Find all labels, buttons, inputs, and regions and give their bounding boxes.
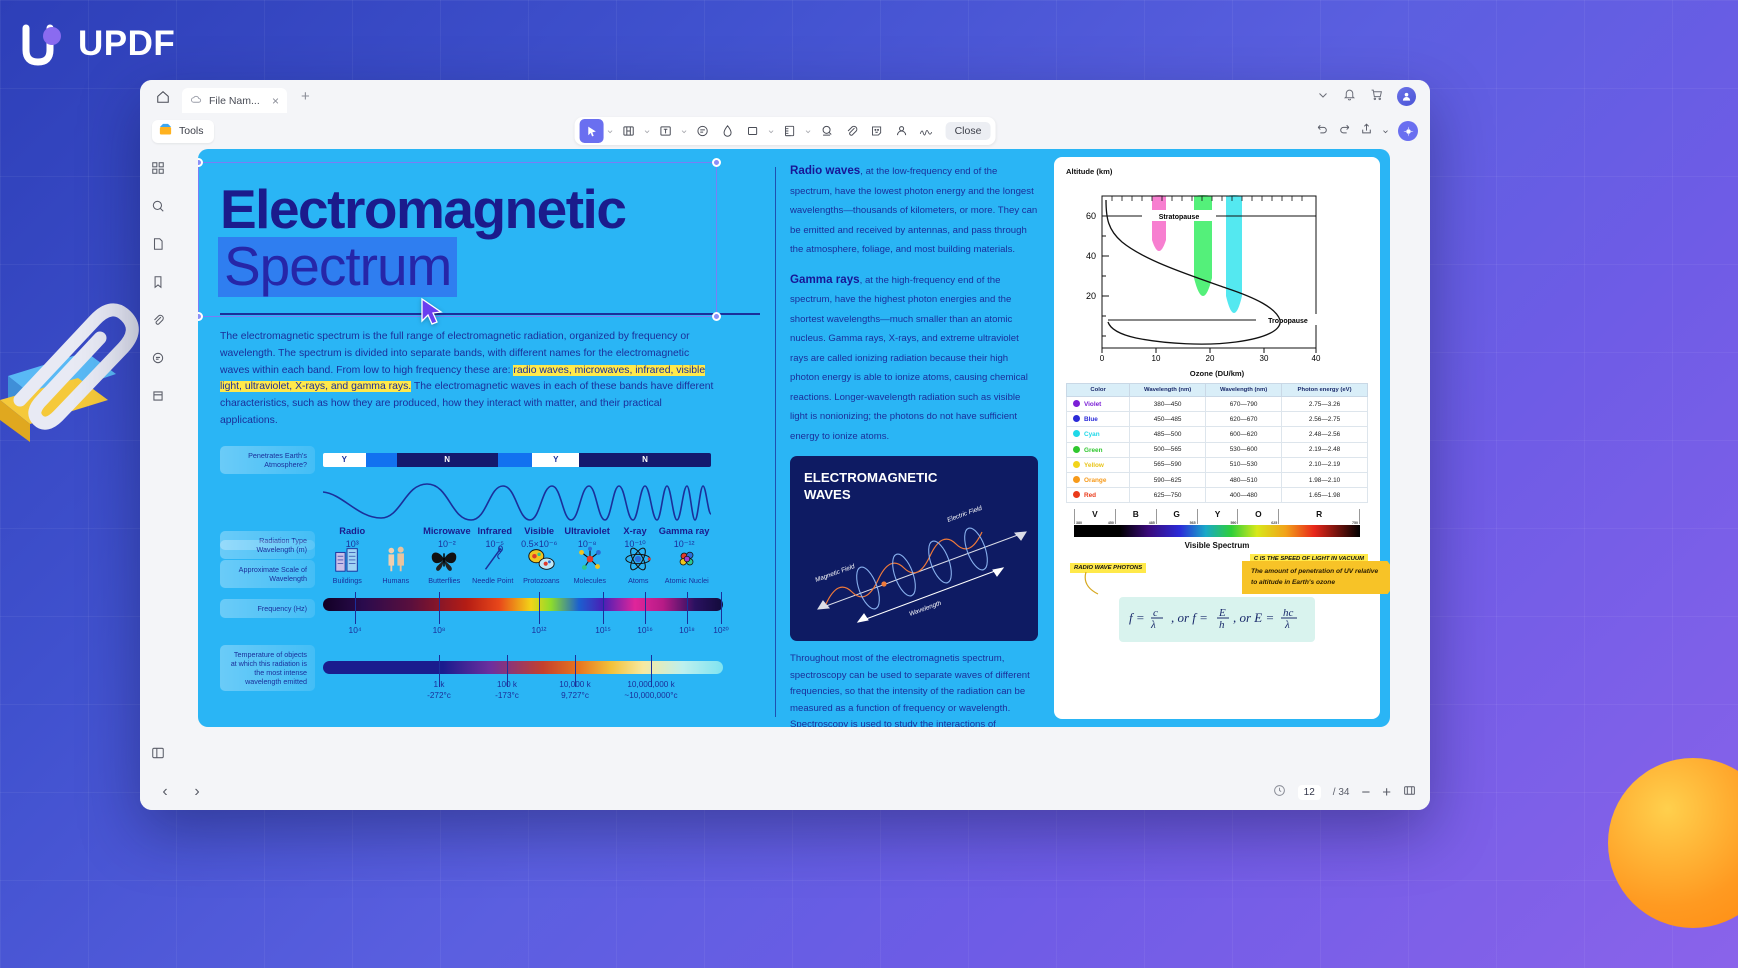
- window-body: Electromagnetic Spectrum The electromagn…: [140, 149, 1430, 774]
- data-card: Altitude (km): [1054, 157, 1380, 719]
- protozoan-icon: [526, 544, 556, 574]
- visible-spectrum-caption: Visible Spectrum: [1074, 541, 1360, 550]
- spectrum-diagram: Penetrates Earth's Atmosphere? Y N Y N: [220, 446, 761, 704]
- radio-waves-heading: Radio waves: [790, 164, 860, 177]
- temp-tick-0-bottom: -272°c: [427, 691, 451, 701]
- th-color: Color: [1067, 384, 1130, 397]
- shape-tool-caret-icon[interactable]: [766, 119, 777, 143]
- paperclip-decoration-icon: [0, 280, 160, 440]
- page-history-icon[interactable]: [1273, 784, 1286, 800]
- band-type-gamma: Gamma ray: [657, 526, 711, 536]
- resize-handle-top-right[interactable]: [712, 158, 721, 167]
- brand-name: UPDF: [78, 24, 175, 64]
- signature-tool[interactable]: [890, 119, 914, 143]
- share-icon[interactable]: [1360, 122, 1373, 140]
- orange-wl2: 480—510: [1206, 472, 1282, 487]
- penetration-yes-1: Y: [323, 453, 366, 467]
- visible-spectrum-table: Color Wavelength (nm) Wavelength (nm) Ph…: [1066, 383, 1368, 503]
- vs-label-g: G: [1173, 509, 1180, 519]
- sidebar-item-attachments[interactable]: [147, 309, 169, 331]
- close-annotation-button[interactable]: Close: [946, 122, 991, 140]
- svg-text:h: h: [1219, 619, 1225, 631]
- band-type-xray: X-ray: [613, 526, 657, 536]
- scale-caption-needle: Needle Point: [472, 576, 513, 585]
- cart-icon[interactable]: [1370, 88, 1383, 106]
- vs-letter-v: V 380 450: [1074, 509, 1115, 524]
- table-body: Violet 380—450 670—790 2.75—3.26 Blue 45…: [1067, 397, 1368, 503]
- blue-energy: 2.56—2.75: [1282, 412, 1368, 427]
- temperature-gradient-bar: [323, 661, 723, 674]
- scale-label: Approximate Scale of Wavelength: [220, 560, 315, 588]
- pen-tool[interactable]: [716, 119, 740, 143]
- wave-graphic: [323, 474, 711, 530]
- measure-tool-caret-icon[interactable]: [803, 119, 814, 143]
- color-swatch-violet: [1073, 400, 1080, 407]
- color-swatch-cyan: [1073, 430, 1080, 437]
- svg-text:Magnetic Field: Magnetic Field: [814, 563, 856, 584]
- page-footer: ‹ › 12 / 34 − +: [140, 774, 1430, 810]
- freq-tick-1: 10⁸: [433, 625, 446, 635]
- penetration-yes-2: Y: [532, 453, 579, 467]
- svg-text:40: 40: [1312, 354, 1321, 363]
- tab-title: File Nam...: [209, 95, 260, 107]
- temperature-scale: 1 k -272°c 100 k -173°c 10,000 k 9,727°c: [323, 661, 723, 704]
- scale-item-atoms: Atoms: [614, 544, 663, 585]
- row-color-orange: Orange: [1084, 477, 1106, 484]
- blue-wl2: 620—670: [1206, 412, 1282, 427]
- violet-wl2: 670—790: [1206, 397, 1282, 412]
- svg-text:Electric Field: Electric Field: [946, 505, 983, 524]
- svg-text:20: 20: [1206, 354, 1215, 363]
- tools-button[interactable]: Tools: [152, 120, 214, 143]
- tools-label: Tools: [179, 125, 204, 137]
- chevron-down-icon[interactable]: [1317, 88, 1329, 106]
- color-swatch-orange: [1073, 476, 1080, 483]
- main-toolbar: Tools: [140, 113, 1430, 149]
- highlight-tool-caret-icon[interactable]: [642, 119, 653, 143]
- scale-caption-nuclei: Atomic Nuclei: [665, 576, 709, 585]
- freq-tick-0: 10⁴: [349, 625, 362, 635]
- table-row: Orange 590—625 480—510 1.98—2.10: [1067, 472, 1368, 487]
- vs-label-b: B: [1133, 509, 1139, 519]
- row-color-green: Green: [1084, 447, 1102, 454]
- scale-item-buildings: Buildings: [323, 544, 372, 585]
- user-avatar[interactable]: [1397, 87, 1416, 106]
- cyan-wl2: 600—620: [1206, 427, 1282, 442]
- table-header-row: Color Wavelength (nm) Wavelength (nm) Ph…: [1067, 384, 1368, 397]
- vs-y-right: 590: [1230, 521, 1236, 525]
- scale-caption-butterflies: Butterflies: [428, 576, 460, 585]
- scale-item-needle: Needle Point: [469, 544, 518, 585]
- annotation-tool-group: Close: [575, 117, 996, 145]
- vs-label-v: V: [1092, 509, 1098, 519]
- vs-label-y: Y: [1215, 509, 1221, 519]
- frequency-gradient-bar: [323, 598, 723, 611]
- band-type-visible: Visible: [517, 526, 561, 536]
- sidebar-item-bookmarks[interactable]: [147, 271, 169, 293]
- vs-b-right: 485: [1149, 521, 1155, 525]
- left-sidebar-rail: [140, 149, 176, 774]
- vs-label-o: O: [1255, 509, 1262, 519]
- penetration-blue-2: [498, 453, 533, 467]
- red-wl2: 400—480: [1206, 488, 1282, 503]
- total-pages-label: / 34: [1333, 787, 1350, 798]
- band-type-infrared: Infrared: [473, 526, 517, 536]
- svg-text:Stratopause: Stratopause: [1159, 214, 1200, 221]
- previous-page-button[interactable]: ‹: [154, 781, 176, 803]
- row-color-cyan: Cyan: [1084, 431, 1100, 438]
- band-type-microwave: Microwave: [421, 526, 472, 536]
- color-swatch-yellow: [1073, 461, 1080, 468]
- ozone-chart-ylabel: Altitude (km): [1066, 167, 1368, 176]
- table-row: Green 500—565 530—600 2.19—2.48: [1067, 442, 1368, 457]
- atom-icon: [623, 544, 653, 574]
- zoom-out-button[interactable]: −: [1361, 784, 1370, 801]
- redo-icon[interactable]: [1338, 122, 1351, 140]
- document-page: Electromagnetic Spectrum The electromagn…: [198, 149, 1390, 727]
- attachment-tool[interactable]: [840, 119, 864, 143]
- updf-logo-icon: [18, 20, 66, 68]
- vs-letter-r: R 750: [1278, 509, 1360, 524]
- orange-energy: 1.98—2.10: [1282, 472, 1368, 487]
- molecule-icon: [575, 544, 605, 574]
- table-row: Cyan 485—500 600—620 2.48—2.56: [1067, 427, 1368, 442]
- desktop-background: UPDF: [0, 0, 1738, 968]
- scale-item-butterflies: Butterflies: [420, 544, 469, 585]
- tools-palette-icon: [158, 122, 173, 140]
- color-swatch-blue: [1073, 415, 1080, 422]
- current-page-input[interactable]: 12: [1298, 785, 1321, 800]
- cyan-wl1: 485—500: [1130, 427, 1206, 442]
- table-row: Red 625—750 400—480 1.65—1.98: [1067, 488, 1368, 503]
- temp-tick-2-bottom: 9,727°c: [561, 691, 589, 701]
- sidebar-item-layers[interactable]: [147, 385, 169, 407]
- red-energy: 1.65—1.98: [1282, 488, 1368, 503]
- temp-tick-2-top: 10,000 k: [559, 680, 590, 690]
- sidebar-item-annotations[interactable]: [147, 347, 169, 369]
- color-swatch-green: [1073, 446, 1080, 453]
- photon-energy-formula: f =c λ , or f = Eh , or E = hcλ: [1119, 597, 1315, 642]
- text-tool[interactable]: [654, 119, 678, 143]
- frequency-scale: 10⁴ 10⁸ 10¹² 10¹⁵ 10¹⁶ 10¹⁸ 10²⁰: [323, 598, 723, 633]
- humans-icon: [381, 544, 411, 574]
- scale-caption-humans: Humans: [382, 576, 409, 585]
- orange-orb-decoration: [1608, 758, 1738, 928]
- svg-text:Wavelength: Wavelength: [908, 600, 942, 618]
- tab-bar: File Nam... × +: [140, 80, 1430, 113]
- wave-card-title-line2: WAVES: [804, 487, 1024, 504]
- vs-v-right: 450: [1108, 521, 1114, 525]
- orange-wl1: 590—625: [1130, 472, 1206, 487]
- penetration-no-1: N: [397, 453, 498, 467]
- resize-handle-bottom-right[interactable]: [712, 312, 721, 321]
- text-tool-caret-icon[interactable]: [679, 119, 690, 143]
- table-row: Blue 450—485 620—670 2.56—2.75: [1067, 412, 1368, 427]
- intro-paragraph: The electromagnetic spectrum is the full…: [220, 329, 720, 430]
- row-color-yellow: Yellow: [1084, 462, 1104, 469]
- scale-item-protozoans: Protozoans: [517, 544, 566, 585]
- title-selection-box[interactable]: [198, 162, 717, 317]
- toolbar-right-controls: [1316, 121, 1418, 141]
- green-wl2: 530—600: [1206, 442, 1282, 457]
- gamma-rays-paragraph: Gamma rays, at the high-frequency end of…: [790, 270, 1038, 446]
- butterfly-icon: [429, 544, 459, 574]
- measure-tool[interactable]: [778, 119, 802, 143]
- share-caret-icon[interactable]: [1382, 122, 1389, 140]
- resize-handle-bottom-left[interactable]: [198, 312, 203, 321]
- scale-caption-molecules: Molecules: [574, 576, 606, 585]
- cyan-energy: 2.48—2.56: [1282, 427, 1368, 442]
- band-type-blank: [381, 526, 421, 536]
- row-color-red: Red: [1084, 492, 1096, 499]
- scale-icons-row: Buildings Humans: [323, 544, 711, 585]
- sticker-tool[interactable]: [865, 119, 889, 143]
- band-type-radio: Radio: [323, 526, 381, 536]
- temp-tick-0-top: 1 k: [434, 680, 445, 690]
- vs-letter-b: B 485: [1115, 509, 1156, 524]
- penetration-label: Penetrates Earth's Atmosphere?: [220, 446, 315, 474]
- scale-item-humans: Humans: [372, 544, 421, 585]
- scale-item-nuclei: Atomic Nuclei: [663, 544, 712, 585]
- fit-page-icon[interactable]: [1403, 784, 1416, 800]
- vs-letter-y: Y 590: [1197, 509, 1238, 524]
- sidebar-item-settings[interactable]: [147, 742, 169, 764]
- gamma-rays-heading: Gamma rays: [790, 273, 860, 286]
- notification-bell-icon[interactable]: [1343, 88, 1356, 106]
- yellow-energy: 2.10—2.19: [1282, 457, 1368, 472]
- cloud-icon: [191, 92, 202, 110]
- shape-tool[interactable]: [741, 119, 765, 143]
- radio-waves-body: , at the low-frequency end of the spectr…: [790, 166, 1037, 255]
- freq-tick-5: 10¹⁸: [679, 625, 695, 635]
- band-type-ultraviolet: Ultraviolet: [561, 526, 612, 536]
- electromagnetic-waves-card: ELECTROMAGNETIC WAVES: [790, 456, 1038, 641]
- svg-text:, or f =: , or f =: [1171, 610, 1208, 625]
- resize-handle-top-left[interactable]: [198, 158, 203, 167]
- buildings-icon: [332, 544, 362, 574]
- violet-wl1: 380—450: [1130, 397, 1206, 412]
- temperature-ticks: 1 k -272°c 100 k -173°c 10,000 k 9,727°c: [323, 674, 723, 704]
- radiation-type-values: Radio Microwave Infrared Visible Ultravi…: [323, 526, 711, 536]
- note-arrow-icon: [1080, 572, 1120, 600]
- penetration-row: Penetrates Earth's Atmosphere? Y N Y N: [220, 446, 761, 474]
- next-page-button[interactable]: ›: [186, 781, 208, 803]
- svg-text:λ: λ: [1150, 619, 1156, 631]
- nucleus-icon: [672, 544, 702, 574]
- vs-letter-o: O 625: [1237, 509, 1278, 524]
- uv-penetration-callout: The amount of penetration of UV relative…: [1242, 561, 1390, 594]
- row-color-blue: Blue: [1084, 416, 1098, 423]
- svg-text:λ: λ: [1284, 619, 1290, 631]
- vs-o-right: 625: [1271, 521, 1277, 525]
- green-energy: 2.19—2.48: [1282, 442, 1368, 457]
- temp-tick-1-bottom: -173°c: [495, 691, 519, 701]
- th-wavelength-2: Wavelength (nm): [1206, 384, 1282, 397]
- yellow-wl1: 565—590: [1130, 457, 1206, 472]
- svg-text:40: 40: [1086, 251, 1096, 261]
- needle-icon: [478, 544, 508, 574]
- svg-text:c: c: [1153, 607, 1158, 619]
- svg-text:60: 60: [1086, 211, 1096, 221]
- table-row: Yellow 565—590 510—530 2.10—2.19: [1067, 457, 1368, 472]
- page-far-column: Altitude (km): [1048, 149, 1390, 727]
- violet-energy: 2.75—3.26: [1282, 397, 1368, 412]
- svg-text:, or E =: , or E =: [1233, 610, 1274, 625]
- freq-tick-4: 10¹⁶: [637, 625, 653, 635]
- document-canvas[interactable]: Electromagnetic Spectrum The electromagn…: [176, 149, 1430, 774]
- vs-label-r: R: [1316, 509, 1322, 519]
- select-tool[interactable]: [580, 119, 604, 143]
- color-swatch-red: [1073, 491, 1080, 498]
- svg-text:10: 10: [1152, 354, 1161, 363]
- ozone-chart-xlabel: Ozone (DU/km): [1066, 369, 1368, 378]
- row-color-violet: Violet: [1084, 401, 1101, 408]
- wave-card-title-line1: ELECTROMAGNETIC: [804, 470, 1024, 487]
- tab-bar-right-controls: [1317, 87, 1420, 106]
- tab-close-icon[interactable]: ×: [272, 95, 279, 107]
- wavelength-label: Wavelength (m): [220, 540, 315, 559]
- visible-spectrum-bar: [1074, 525, 1360, 537]
- scale-item-molecules: Molecules: [566, 544, 615, 585]
- yellow-wl2: 510—530: [1206, 457, 1282, 472]
- undo-icon[interactable]: [1316, 122, 1329, 140]
- sidebar-item-pages[interactable]: [147, 233, 169, 255]
- svg-text:E: E: [1218, 607, 1226, 619]
- red-wl1: 625—750: [1130, 488, 1206, 503]
- temperature-label: Temperature of objects at which this rad…: [220, 645, 315, 691]
- svg-text:20: 20: [1086, 291, 1096, 301]
- penetration-blue-1: [366, 453, 397, 467]
- frequency-ticks: 10⁴ 10⁸ 10¹² 10¹⁵ 10¹⁶ 10¹⁸ 10²⁰: [323, 611, 723, 633]
- svg-text:Tropopause: Tropopause: [1268, 318, 1308, 325]
- highlight-tool[interactable]: [617, 119, 641, 143]
- page-middle-column: Radio waves, at the low-frequency end of…: [776, 149, 1048, 727]
- svg-text:hc: hc: [1283, 607, 1294, 619]
- green-wl1: 500—565: [1130, 442, 1206, 457]
- svg-text:30: 30: [1260, 354, 1269, 363]
- spectroscopy-paragraph: Throughout most of the electromagnetis s…: [790, 651, 1038, 727]
- freq-tick-2: 10¹²: [532, 625, 547, 635]
- page-right-side: Radio waves, at the low-frequency end of…: [776, 149, 1390, 727]
- th-wavelength-1: Wavelength (nm): [1130, 384, 1206, 397]
- zoom-in-button[interactable]: +: [1382, 784, 1391, 801]
- page-left-column: Electromagnetic Spectrum The electromagn…: [198, 149, 775, 727]
- penetration-no-2: N: [579, 453, 711, 467]
- note-tool[interactable]: [691, 119, 715, 143]
- table-row: Violet 380—450 670—790 2.75—3.26: [1067, 397, 1368, 412]
- blue-wl1: 450—485: [1130, 412, 1206, 427]
- ai-assistant-icon[interactable]: [1398, 121, 1418, 141]
- app-window: File Nam... × +: [140, 80, 1430, 810]
- penetration-bar: Y N Y N: [323, 453, 711, 467]
- th-photon-energy: Photon energy (eV): [1282, 384, 1368, 397]
- formula-handwriting: f =c λ , or f = Eh , or E = hcλ: [1127, 602, 1307, 632]
- gamma-rays-body: , at the high-frequency end of the spect…: [790, 275, 1028, 442]
- scale-caption-atoms: Atoms: [628, 576, 648, 585]
- freq-tick-3: 10¹⁵: [595, 625, 611, 635]
- select-tool-caret-icon[interactable]: [605, 119, 616, 143]
- home-button[interactable]: [150, 84, 176, 110]
- sidebar-item-search[interactable]: [147, 195, 169, 217]
- vs-g-right: 565: [1190, 521, 1196, 525]
- stamp-tool[interactable]: [815, 119, 839, 143]
- svg-text:f =: f =: [1129, 610, 1145, 625]
- scale-caption-buildings: Buildings: [333, 576, 362, 585]
- temp-tick-1-top: 100 k: [497, 680, 517, 690]
- ozone-altitude-chart: 60 40 20 0 10 20: [1066, 178, 1344, 363]
- temp-tick-3-top: 10,000,000 k: [627, 680, 674, 690]
- freq-tick-6: 10²⁰: [713, 625, 728, 635]
- frequency-label: Frequency (Hz): [220, 599, 315, 618]
- scale-caption-protozoans: Protozoans: [523, 576, 559, 585]
- handwrite-tool[interactable]: [915, 119, 939, 143]
- sidebar-item-thumbnails[interactable]: [147, 157, 169, 179]
- new-tab-button[interactable]: +: [293, 88, 318, 105]
- vs-r-right: 750: [1352, 521, 1358, 525]
- em-wave-illustration: Electric Field Magnetic Field Wavelength: [798, 504, 1038, 639]
- temp-tick-3-bottom: ~10,000,000°c: [624, 691, 677, 701]
- radio-waves-paragraph: Radio waves, at the low-frequency end of…: [790, 161, 1038, 259]
- brand-logo-area: UPDF: [18, 20, 175, 68]
- visible-spectrum-letters: V 380 450 B 485 G 565 Y 590: [1074, 509, 1360, 524]
- vs-letter-g: G 565: [1156, 509, 1197, 524]
- footer-right-controls: 12 / 34 − +: [1273, 784, 1416, 801]
- document-tab[interactable]: File Nam... ×: [182, 88, 287, 113]
- vs-v-left: 380: [1076, 521, 1082, 525]
- svg-text:0: 0: [1100, 354, 1105, 363]
